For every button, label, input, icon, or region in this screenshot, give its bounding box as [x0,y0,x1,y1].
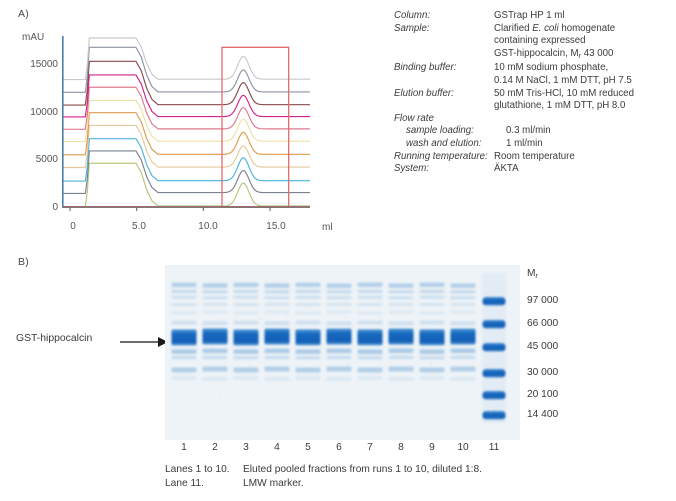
chromatogram-traces [62,38,310,207]
method-key: Column: [394,10,494,23]
gel-band [327,367,352,372]
gel-speck [355,401,357,403]
chromatogram-trace [62,163,310,207]
gel-band [451,290,476,293]
mr-marker-label: 97 000 [527,295,558,306]
gel-band [265,349,290,354]
gel-band [296,349,321,354]
gel-speck [259,317,262,320]
gst-hippocalcin-band-label: GST-hippocalcin [16,333,92,344]
gel-speck [412,349,414,351]
chromatogram-trace [62,100,310,141]
gel-band [327,311,352,314]
panel-a-chromatogram: A) mAU ml 0 5000 10000 15000 0 5.0 10.0 … [0,0,356,250]
gel-band [172,349,197,354]
gel-marker-band [483,297,506,306]
chromatogram-trace [62,75,310,117]
gel-speck [311,347,312,348]
gel-speck [460,360,461,361]
gel-speck [250,281,251,282]
gel-speck [176,415,177,416]
mr-header-label: Mr [527,268,538,280]
gel-band [296,321,321,325]
gel-speck [492,336,494,338]
gel-band [172,321,197,325]
gel-speck [349,364,351,366]
y-tick-15000: 15000 [10,59,58,70]
gel-band [203,290,228,293]
gel-caption-value: LMW marker. [243,477,482,491]
method-value: glutathione, 1 mM DTT, pH 8.0 [494,100,670,113]
gel-speck [419,395,422,398]
chromatogram-trace [62,61,310,105]
gel-band [358,349,383,354]
chromatogram-trace [62,47,310,92]
gel-speck [222,318,224,320]
gel-marker-band [483,411,506,420]
gel-speck [432,324,433,325]
gel-band [234,377,259,380]
panel-a-label: A) [18,8,29,20]
gel-band [358,303,383,306]
gel-band [358,367,383,372]
method-key: sample loading: [394,125,506,138]
gel-band [172,368,197,373]
method-row: sample loading:0.3 ml/min [394,125,670,138]
method-key: wash and elution: [394,138,506,151]
gel-band [296,290,321,293]
gel-band [327,349,352,354]
x-tick-5: 5.0 [124,221,154,232]
method-value: Room temperature [494,151,670,164]
gel-band [358,377,383,380]
mr-header-text: M [527,268,536,279]
gel-lane-number: 1 [174,442,194,453]
gel-image [165,265,520,440]
method-row: Binding buffer:10 mM sodium phosphate, [394,62,670,75]
gel-band [389,311,414,314]
gel-band-gst-hippocalcin [234,329,259,345]
gel-speck [375,335,376,336]
gel-band [451,378,476,381]
gel-band [358,290,383,293]
gel-marker-band [483,369,506,378]
gel-speck [344,317,346,319]
arrow-icon [120,336,168,348]
gel-band [420,349,445,354]
gel-band-gst-hippocalcin [358,329,383,345]
gel-lane-number: 10 [453,442,473,453]
gel-band [172,303,197,306]
gel-band [203,283,228,288]
gel-speck [474,351,477,354]
mr-marker-label: 30 000 [527,367,558,378]
gel-speck [377,299,379,301]
gel-lane-number: 2 [205,442,225,453]
gel-band [420,290,445,293]
gel-caption-key: Lanes 1 to 10. [165,463,243,477]
gel-band [451,367,476,372]
gel-speck [184,297,186,299]
gel-speck [210,362,211,363]
method-value: 50 mM Tris-HCl, 10 mM reduced [494,88,670,101]
gel-speck [333,342,334,343]
gel-band [203,349,228,354]
gel-band [420,377,445,380]
method-key: Running temperature: [394,151,494,164]
gel-speck [346,362,348,364]
gel-band [389,321,414,325]
gel-speck [390,312,392,314]
gel-speck [310,307,311,308]
gel-band [389,356,414,359]
x-tick-0: 0 [58,221,88,232]
y-axis-tick-labels: 0 5000 10000 15000 [6,36,58,216]
gel-speck [438,394,441,397]
gel-lane-number: 3 [236,442,256,453]
method-row: Elution buffer:50 mM Tris-HCl, 10 mM red… [394,88,670,101]
gel-marker-band [483,343,506,352]
method-row: Column:GSTrap HP 1 ml [394,10,670,23]
gel-speck [259,323,260,324]
y-tick-10000: 10000 [10,107,58,118]
gel-band [234,367,259,372]
gel-speck [391,353,394,356]
gel-speck [489,411,492,414]
gel-band [296,356,321,359]
gel-speck [445,295,448,298]
gel-band [296,367,321,372]
gel-speck [449,296,452,299]
gel-band [451,311,476,314]
gel-speck [396,363,397,364]
gel-band [327,296,352,299]
gel-speck [384,313,387,316]
gel-band [358,311,383,314]
method-value: GSTrap HP 1 ml [494,10,670,23]
panel-b-gel: B) GST-hippocalcin Mr [0,250,676,501]
gel-band [389,303,414,306]
gel-lane-number: 6 [329,442,349,453]
gel-band [451,283,476,288]
gel-speck [358,363,359,364]
method-value: 0.14 M NaCl, 1 mM DTT, pH 7.5 [494,75,670,88]
gel-lane-number: 4 [267,442,287,453]
gel-speck [430,362,433,365]
gel-marker-band [483,320,506,329]
gel-band [296,296,321,299]
gel-band [358,283,383,288]
gel-band [172,283,197,288]
gel-lane-number: 11 [484,442,504,453]
gel-band-gst-hippocalcin [203,329,228,345]
axis-ticks [62,80,270,211]
gel-band [172,290,197,293]
fraction-collection-marker [62,47,310,207]
gel-band [389,296,414,299]
gel-band-gst-hippocalcin [327,329,352,345]
gel-speck [380,296,383,299]
gel-band [172,356,197,359]
gel-band [296,283,321,288]
gel-band [203,356,228,359]
mr-header-subscript: r [536,271,539,280]
gel-speck [224,424,225,425]
gel-band [296,311,321,314]
method-value: containing expressed [494,35,670,48]
method-parameters-table: Column:GSTrap HP 1 mlSample:Clarified E.… [394,10,670,176]
gel-speck [286,314,289,317]
gel-lane-marker [482,273,506,423]
gel-speck [484,385,486,387]
panel-b-label: B) [18,256,29,268]
gel-band [296,377,321,380]
gel-speck [218,392,221,395]
gel-svg [165,265,520,440]
gel-band [358,356,383,359]
gel-speck [217,279,218,280]
gel-band [203,321,228,325]
chromatogram-trace [62,125,310,167]
gel-speck [399,318,400,319]
gel-speck [435,366,436,367]
gel-band-gst-hippocalcin [420,329,445,345]
gel-speck [170,432,171,433]
gel-band [389,290,414,293]
gel-band [327,283,352,288]
method-key: System: [394,163,494,176]
gel-speck [211,347,214,350]
gel-speck [202,324,204,326]
gel-band [172,377,197,380]
chromatogram-plot-area [62,36,310,216]
method-key: Binding buffer: [394,62,494,75]
gel-speck [352,270,353,271]
gel-band-gst-hippocalcin [389,329,414,345]
x-axis-unit-label: ml [322,222,333,233]
gel-speck [337,335,338,336]
gel-band [265,356,290,359]
gel-band [420,296,445,299]
gel-band [265,367,290,372]
gel-speck [470,409,473,412]
gel-band [234,290,259,293]
method-value: ÄKTA [494,163,670,176]
method-value: GST-hippocalcin, Mr 43 000 [494,48,670,63]
gel-band [451,296,476,299]
gel-band [420,303,445,306]
gel-band [420,312,445,315]
gel-band [234,321,259,325]
gel-speck [230,376,233,379]
gel-band [451,303,476,306]
gel-band [265,321,290,325]
gel-speck [414,279,415,280]
gel-band-gst-hippocalcin [296,329,321,345]
gel-band [265,303,290,306]
gel-speck [250,366,253,369]
gel-caption-row: Lane 11.LMW marker. [165,477,482,491]
gel-speck [424,299,426,301]
gel-speck [425,393,427,395]
gel-band [420,283,445,288]
gel-band [234,296,259,299]
gel-band [265,311,290,314]
gel-band [203,303,228,306]
gel-band [172,311,197,314]
x-tick-15: 15.0 [261,221,291,232]
chromatogram-trace [62,38,310,80]
x-tick-10: 10.0 [193,221,223,232]
method-row: System:ÄKTA [394,163,670,176]
method-row: wash and elution:1 ml/min [394,138,670,151]
gel-speck [341,359,343,361]
method-row: 0.14 M NaCl, 1 mM DTT, pH 7.5 [394,75,670,88]
gel-caption-row: Lanes 1 to 10.Eluted pooled fractions fr… [165,463,482,477]
mr-marker-label: 20 100 [527,389,558,400]
gel-band [389,283,414,288]
method-value: 10 mM sodium phosphate, [494,62,670,75]
gel-band [327,303,352,306]
gel-speck [369,322,370,323]
gel-caption-key: Lane 11. [165,477,243,491]
gel-speck [233,395,235,397]
gel-band [327,377,352,380]
gel-band-gst-hippocalcin [265,329,290,345]
method-row: Sample:Clarified E. coli homogenate [394,23,670,36]
gel-band [420,356,445,359]
gel-band-gst-hippocalcin [451,329,476,345]
method-row: Flow rate [394,113,670,126]
method-row: GST-hippocalcin, Mr 43 000 [394,48,670,63]
method-key: Elution buffer: [394,88,494,101]
gel-band [296,303,321,306]
chromatogram-trace [62,139,310,181]
gel-lane-number: 9 [422,442,442,453]
gel-speck [343,334,346,337]
method-value: 0.3 ml/min [506,125,670,138]
gel-band [451,321,476,325]
gel-speck [234,307,237,310]
gel-caption: Lanes 1 to 10.Eluted pooled fractions fr… [165,463,482,491]
chromatogram-trace [62,87,310,129]
gel-speck [403,306,404,307]
y-tick-5000: 5000 [10,154,58,165]
method-key: Flow rate [394,113,494,126]
gel-band [234,349,259,354]
gel-band [451,356,476,359]
gel-band [265,290,290,293]
method-value: 1 ml/min [506,138,670,151]
gel-band [389,349,414,354]
gel-band [420,321,445,325]
gel-speck [236,428,239,431]
method-row: containing expressed [394,35,670,48]
gel-speck [412,338,414,340]
gel-speck [218,383,219,384]
method-row: glutathione, 1 mM DTT, pH 8.0 [394,100,670,113]
gel-band-gst-hippocalcin [172,329,197,345]
method-row: Running temperature:Room temperature [394,151,670,164]
gel-lane-number: 8 [391,442,411,453]
gel-speck [241,412,243,414]
y-tick-0: 0 [10,202,58,213]
gel-band [389,377,414,380]
gel-band [358,296,383,299]
gel-band [234,303,259,306]
gel-band [203,296,228,299]
gel-speck [370,385,372,387]
gel-band [265,283,290,288]
gel-speck [174,276,176,278]
gel-band [203,377,228,380]
mr-marker-label: 66 000 [527,318,558,329]
chromatogram-trace [62,113,310,155]
gel-band [234,283,259,288]
gel-band [327,356,352,359]
gel-band [234,311,259,314]
mr-marker-label: 14 400 [527,409,558,420]
chromatogram-svg [62,36,310,216]
gel-band [327,321,352,325]
mr-marker-label: 45 000 [527,341,558,352]
gel-band [389,367,414,372]
gel-band [203,311,228,314]
method-value: Clarified E. coli homogenate [494,23,670,36]
gel-band [234,356,259,359]
gel-caption-value: Eluted pooled fractions from runs 1 to 1… [243,463,482,477]
gel-speck [309,431,310,432]
gel-band [172,296,197,299]
gel-lane-number: 7 [360,442,380,453]
gel-lane-number: 5 [298,442,318,453]
gel-band [265,377,290,380]
gel-band [265,296,290,299]
gel-speck [238,319,239,320]
gel-band [327,290,352,293]
gel-band [451,349,476,354]
chromatogram-trace [62,151,310,193]
gel-speck [176,386,177,387]
gel-band [420,367,445,372]
gel-speck [429,303,432,306]
method-key: Sample: [394,23,494,36]
gel-speck [397,323,399,325]
gel-band [203,367,228,372]
gel-marker-band [483,391,506,400]
gel-speck [307,419,308,420]
